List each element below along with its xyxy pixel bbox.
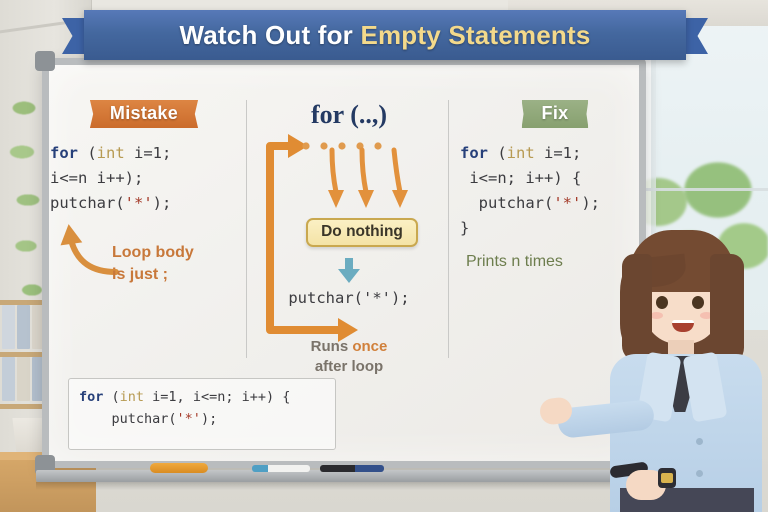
hair-side-right [710,254,744,366]
type-int: int [120,389,144,405]
mistake-code-line-2: i<=n i++); [50,166,238,191]
teacher-figure [596,228,768,512]
three-column-layout: Mistake for (int i=1; i<=n i++); putchar… [50,100,645,350]
column-flow: for (..,) [260,100,438,376]
fn-putchar: putchar( [460,194,553,212]
fix-tag: Fix [522,100,589,128]
column-mistake: Mistake for (int i=1; i<=n i++); putchar… [50,100,238,290]
mistake-tag: Mistake [90,100,198,128]
tray-shadow [36,482,652,490]
mistake-annotation-line2: is just ; [112,264,194,286]
fix-code-line-1: for (int i=1; [460,141,650,166]
blue-marker-icon[interactable] [252,465,310,472]
code-end: ); [581,194,600,212]
do-nothing-box: Do nothing [306,218,418,247]
cardigan-button-2 [696,438,703,445]
code-paren: ( [103,389,119,405]
curved-down-arrows-icon [306,148,434,216]
fix-code-line-3: putchar('*'); [460,191,650,216]
code-end: ); [201,411,217,427]
flow-caption-line2: after loop [260,357,438,377]
fix-code-block: for (int i=1; i<=n; i++) { putchar('*');… [460,141,650,241]
keyword-for: for [79,389,103,405]
fix-code-line-2: i<=n; i++) { [460,166,650,191]
column-divider-1 [246,100,247,358]
eye-left [656,296,668,309]
title-highlight: Empty Statements [360,20,590,50]
classroom-scene: Watch Out for Empty Statements Mistake f… [0,0,768,512]
bottom-code-line-1: for (int i=1, i<=n; i++) { [79,386,325,408]
eye-right [692,296,704,309]
code-cond: i=1, i<=n; i++) { [144,389,290,405]
board-corner-top-left [35,51,55,71]
code-paren: ( [488,144,507,162]
page-title: Watch Out for Empty Statements [180,20,591,51]
bottom-code-line-2: putchar('*'); [79,408,325,430]
bottom-code-box: for (int i=1, i<=n; i++) { putchar('*'); [68,378,336,450]
wristwatch-icon [658,468,676,488]
code-init: i=1; [535,144,582,162]
keyword-for: for [460,144,488,162]
eraser-icon[interactable] [150,463,208,473]
mistake-code-line-1: for (int i=1; [50,141,238,166]
type-int: int [97,144,125,162]
code-paren: ( [78,144,97,162]
hair-side-left [622,254,652,362]
column-divider-2 [448,100,449,358]
black-marker-icon[interactable] [320,465,384,472]
mistake-code-line-3: putchar('*'); [50,191,238,216]
title-ribbon: Watch Out for Empty Statements [84,10,686,60]
code-end: ); [153,194,172,212]
cardigan-button-3 [696,470,703,477]
char-literal: '*' [177,411,201,427]
keyword-for: for [50,144,78,162]
fn-putchar: putchar( [50,194,125,212]
fn-putchar: putchar( [79,411,177,427]
mistake-annotation-line1: Loop body [112,242,194,264]
type-int: int [507,144,535,162]
char-literal: '*' [125,194,153,212]
title-plain: Watch Out for [180,20,361,50]
code-init: i=1; [125,144,172,162]
mistake-code-block: for (int i=1; i<=n i++); putchar('*'); [50,141,238,216]
char-literal: '*' [553,194,581,212]
title-banner: Watch Out for Empty Statements [62,8,708,64]
flow-heading: for (..,) [260,100,438,130]
